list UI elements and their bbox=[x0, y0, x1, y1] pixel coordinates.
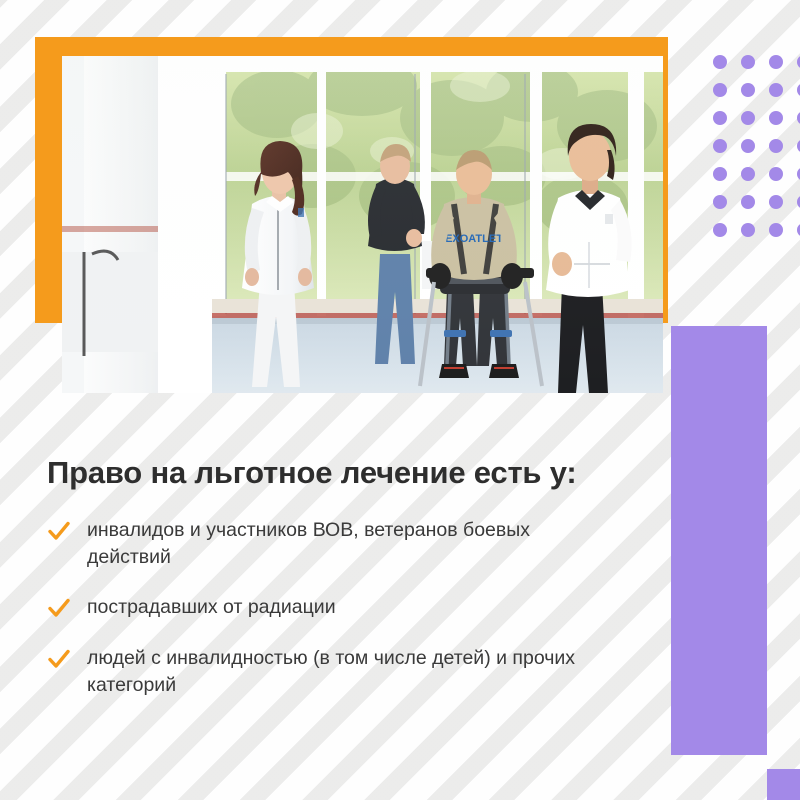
benefits-list: инвалидов и участников ВОВ, ветеранов бо… bbox=[47, 517, 647, 700]
list-item-label: пострадавших от радиации bbox=[87, 594, 336, 621]
purple-bar-decoration bbox=[671, 326, 767, 755]
dot bbox=[741, 195, 755, 209]
content-block: Право на льготное лечение есть у: инвали… bbox=[47, 455, 647, 699]
dot bbox=[769, 167, 783, 181]
dot bbox=[741, 55, 755, 69]
poster-canvas: EXOATLET bbox=[0, 0, 800, 800]
dot bbox=[713, 167, 727, 181]
dot bbox=[713, 139, 727, 153]
list-item: инвалидов и участников ВОВ, ветеранов бо… bbox=[47, 517, 647, 571]
dot bbox=[741, 223, 755, 237]
dot-grid-decoration bbox=[713, 55, 800, 251]
dot bbox=[741, 139, 755, 153]
purple-corner-decoration bbox=[767, 769, 800, 800]
dot bbox=[741, 111, 755, 125]
check-icon bbox=[47, 647, 71, 671]
dot bbox=[769, 83, 783, 97]
dot bbox=[769, 55, 783, 69]
dot bbox=[713, 111, 727, 125]
dot bbox=[769, 223, 783, 237]
dot bbox=[769, 111, 783, 125]
dot bbox=[713, 83, 727, 97]
list-item-label: инвалидов и участников ВОВ, ветеранов бо… bbox=[87, 517, 607, 571]
list-item: пострадавших от радиации bbox=[47, 594, 647, 621]
check-icon bbox=[47, 596, 71, 620]
dot bbox=[741, 167, 755, 181]
list-item: людей с инвалидностью (в том числе детей… bbox=[47, 645, 647, 699]
dot bbox=[713, 195, 727, 209]
dot bbox=[713, 223, 727, 237]
dot bbox=[713, 55, 727, 69]
dot bbox=[741, 83, 755, 97]
page-title: Право на льготное лечение есть у: bbox=[47, 455, 647, 491]
dot bbox=[769, 139, 783, 153]
dot bbox=[769, 195, 783, 209]
list-item-label: людей с инвалидностью (в том числе детей… bbox=[87, 645, 607, 699]
check-icon bbox=[47, 519, 71, 543]
hero-photo: EXOATLET bbox=[62, 56, 663, 393]
